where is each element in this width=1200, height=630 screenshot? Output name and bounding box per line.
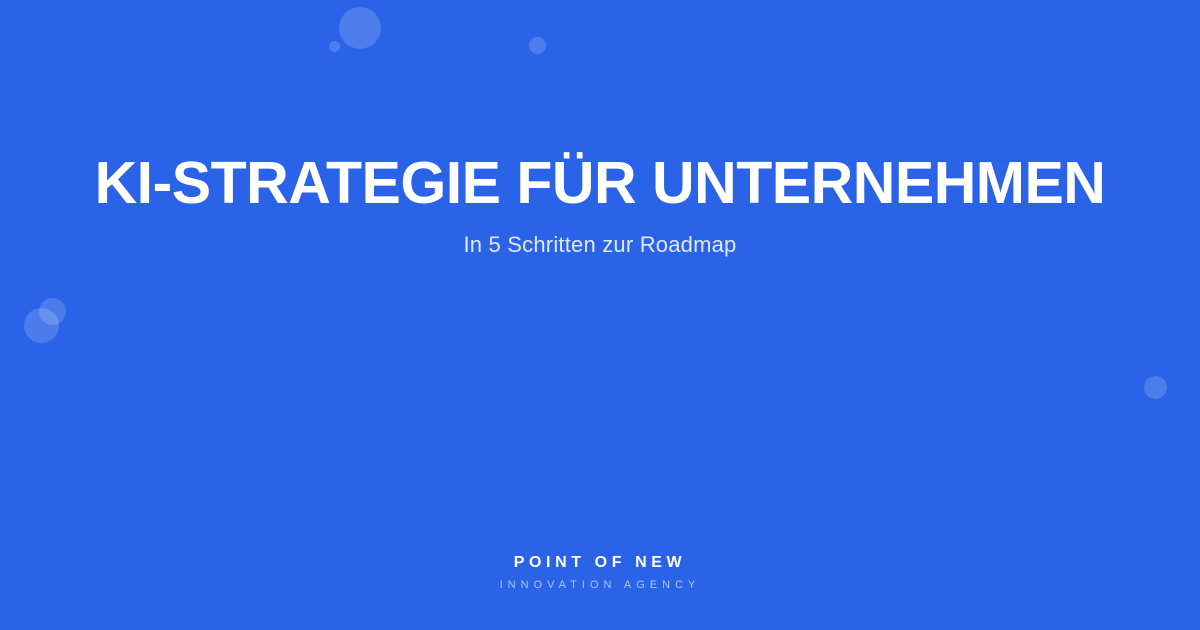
brand-name: Point of New xyxy=(0,553,1200,573)
decor-circle-top-large xyxy=(339,7,381,49)
page-title: KI-Strategie für Unternehmen xyxy=(60,150,1140,216)
brand-tagline: Innovation Agency xyxy=(0,578,1200,592)
decorative-circles-layer xyxy=(0,0,1200,630)
decor-circle-left-upper xyxy=(39,298,66,325)
brand-footer: Point of New Innovation Agency xyxy=(0,553,1200,592)
decor-circle-left-lower xyxy=(24,308,59,343)
decor-circle-top-right xyxy=(529,37,546,54)
decor-circle-top-small xyxy=(329,41,340,52)
decor-circle-right xyxy=(1144,376,1167,399)
slide-canvas: KI-Strategie für Unternehmen In 5 Schrit… xyxy=(0,0,1200,630)
hero-text-block: KI-Strategie für Unternehmen In 5 Schrit… xyxy=(0,150,1200,260)
page-subtitle: In 5 Schritten zur Roadmap xyxy=(60,230,1140,260)
